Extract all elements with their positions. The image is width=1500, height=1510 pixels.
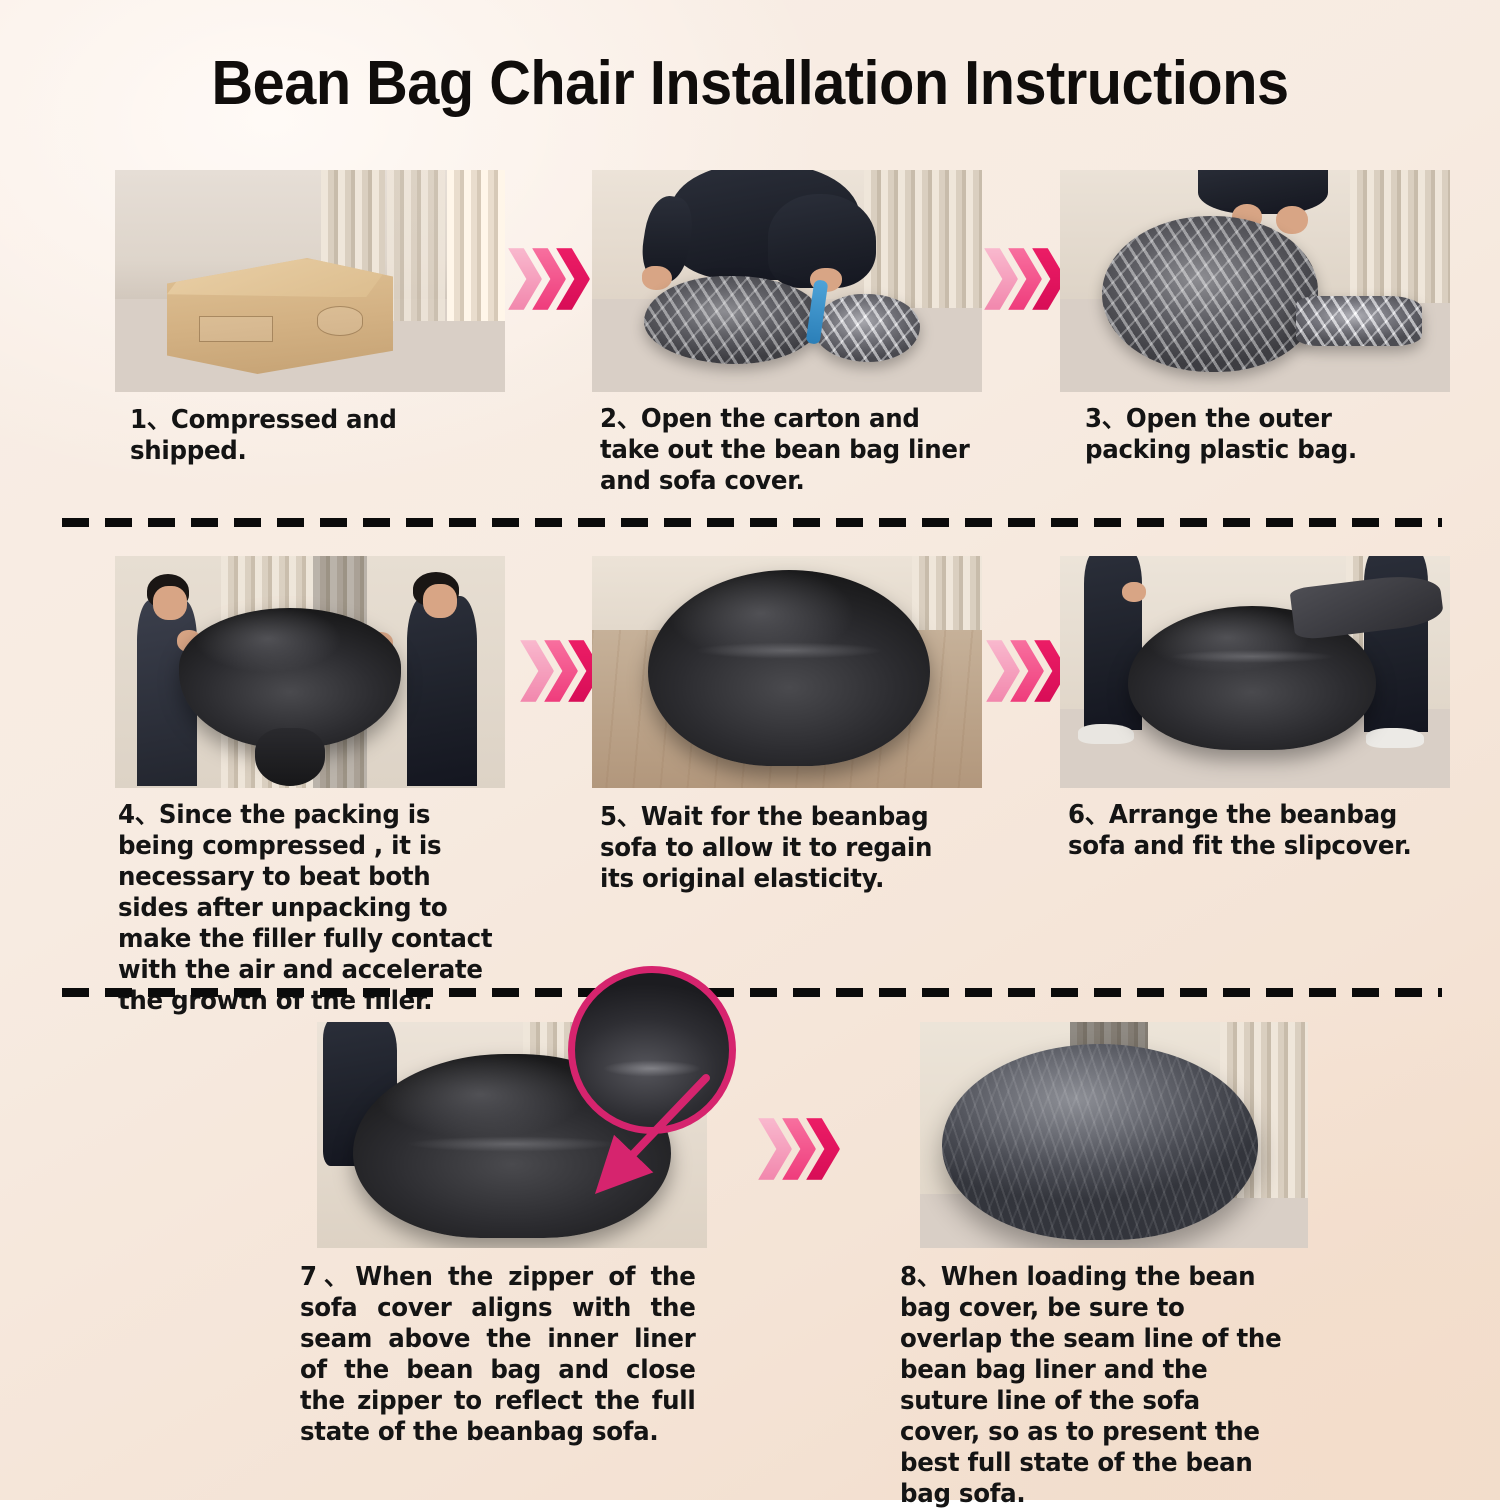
hand [642,266,672,290]
chevron-right-icon [986,640,1020,702]
hand [1276,206,1308,234]
step-1-photo [115,170,505,392]
carton-label [199,316,273,342]
chevron-right-icon [984,248,1018,310]
step-6-photo [1060,556,1450,788]
step-3-photo [1060,170,1450,392]
plastic-wrapped-filler-ball [1102,216,1318,372]
step-7-caption-text: 7、When the zipper of the sofa cover alig… [300,1262,696,1447]
step-5-photo [592,556,982,788]
chevron-right-icon [758,1118,792,1180]
beanbag-tail [255,728,325,786]
step-1-caption: 1、Compressed and shipped. [130,405,495,467]
arrow-step2-to-step3 [984,248,1070,310]
step-8-photo [920,1022,1308,1248]
chevron-right-icon [520,640,554,702]
arrow-step7-to-step8 [758,1118,844,1180]
divider-row1-row2 [62,518,1442,527]
shoe [1366,728,1424,748]
finished-beanbag-with-fur-cover [942,1044,1258,1240]
vacuum-sealed-liner-bag [644,276,822,364]
beanbag-seam [659,641,918,661]
step-2-caption: 2、Open the carton and take out the bean … [600,404,976,497]
step-4-photo [115,556,505,788]
hand [1122,582,1146,602]
person-standing [1198,170,1328,214]
step-5-caption: 5、Wait for the beanbag sofa to allow it … [600,802,955,895]
callout-pointer-arrow [588,1068,728,1198]
carton-logo [317,306,363,336]
chevron-right-icon [508,248,542,310]
beanbag-seam [1138,649,1366,663]
vacuum-sealed-cover-bag [814,294,920,362]
face [423,584,457,618]
person-right [407,596,477,786]
step-6-caption: 6、Arrange the beanbag sofa and fit the s… [1068,800,1431,862]
divider-row2-row3 [62,988,1442,997]
shoe [1078,724,1134,744]
step-8-caption: 8、When loading the bean bag cover, be su… [900,1262,1284,1510]
face [153,586,187,620]
arrow-step1-to-step2 [508,248,594,310]
beanbag-liner [179,608,401,748]
step-3-caption: 3、Open the outer packing plastic bag. [1085,404,1440,466]
step-4-caption: 4、Since the packing is being compressed … [118,800,502,1017]
flat-sealed-bag [1296,296,1422,346]
infographic-page: Bean Bag Chair Installation Instructions… [0,0,1500,1500]
beanbag-liner-settled [648,570,930,766]
step-7-caption: 7、When the zipper of the sofa cover alig… [300,1262,696,1448]
step-2-photo [592,170,982,392]
page-title: Bean Bag Chair Installation Instructions [53,48,1448,120]
